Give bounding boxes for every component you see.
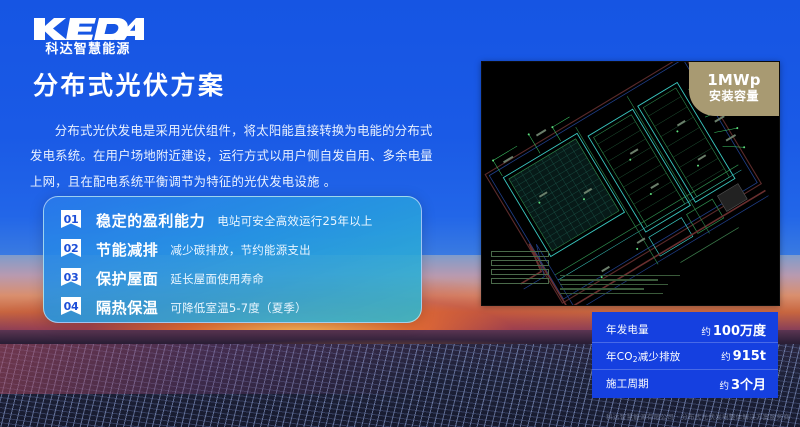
cad-site-plan[interactable]: 1MWp 安装容量 bbox=[481, 61, 780, 306]
feature-number: 02 bbox=[59, 242, 83, 255]
feature-title: 隔热保温 bbox=[96, 297, 158, 318]
feature-item-03[interactable]: 03 保护屋面 延长屋面使用寿命 bbox=[44, 264, 421, 293]
page-title: 分布式光伏方案 bbox=[33, 72, 226, 100]
brand-logo: 科达智慧能源 bbox=[32, 16, 144, 56]
stat-label-text: 施工周期 bbox=[606, 378, 649, 390]
stat-row-construction-period: 施工周期 约3个月 bbox=[592, 370, 778, 396]
number-badge-icon: 04 bbox=[59, 296, 83, 320]
feature-title: 保护屋面 bbox=[96, 268, 158, 289]
capacity-badge: 1MWp 安装容量 bbox=[689, 62, 779, 116]
number-badge-icon: 03 bbox=[59, 267, 83, 291]
footer-watermark: 科达智慧能源有限公司 · 分布式光伏发电整体解决方案服务商 bbox=[606, 411, 790, 421]
stats-panel: 年发电量 约100万度 年CO2减少排放 约915t 施工周期 约3个月 bbox=[592, 312, 778, 398]
stat-label: 施工周期 bbox=[606, 376, 649, 391]
stat-value-prefix: 约 bbox=[721, 352, 731, 363]
feature-number: 01 bbox=[59, 213, 83, 226]
feature-item-01[interactable]: 01 稳定的盈利能力 电站可安全高效运行25年以上 bbox=[44, 206, 421, 235]
feature-description: 减少碳排放，节约能源支出 bbox=[170, 242, 310, 258]
stat-label-text: 年发电量 bbox=[606, 324, 649, 336]
feature-description: 延长屋面使用寿命 bbox=[170, 271, 264, 287]
keda-logomark-icon bbox=[32, 16, 144, 42]
intro-paragraph: 分布式光伏发电是采用光伏组件，将太阳能直接转换为电能的分布式发电系统。在用户场地… bbox=[30, 118, 438, 194]
stat-value-number: 3个月 bbox=[731, 378, 766, 393]
stat-label-subscript: 2 bbox=[633, 355, 638, 364]
slide-root: 科达智慧能源 分布式光伏方案 分布式光伏发电是采用光伏组件，将太阳能直接转换为电… bbox=[0, 0, 800, 427]
feature-title: 节能减排 bbox=[96, 239, 158, 260]
feature-title: 稳定的盈利能力 bbox=[96, 210, 205, 231]
field-warm-tint bbox=[0, 344, 430, 394]
feature-item-04[interactable]: 04 隔热保温 可降低室温5-7度（夏季） bbox=[44, 293, 421, 322]
stat-row-co2-reduction: 年CO2减少排放 约915t bbox=[592, 343, 778, 370]
feature-number: 03 bbox=[59, 271, 83, 284]
number-badge-icon: 01 bbox=[59, 209, 83, 233]
stat-label-text-post: 减少排放 bbox=[638, 351, 681, 363]
feature-number: 04 bbox=[59, 300, 83, 313]
stat-value: 约3个月 bbox=[719, 374, 766, 393]
stat-value: 约915t bbox=[721, 349, 766, 364]
capacity-value: 1MWp bbox=[707, 73, 760, 89]
stat-value-number: 915t bbox=[733, 349, 766, 364]
stat-label-text: 年CO bbox=[606, 351, 633, 363]
cad-legend bbox=[491, 251, 549, 287]
cad-notes-block bbox=[560, 275, 680, 298]
capacity-label: 安装容量 bbox=[709, 89, 759, 105]
stat-label: 年发电量 bbox=[606, 322, 649, 337]
feature-panel: 01 稳定的盈利能力 电站可安全高效运行25年以上 02 节能减排 减少碳排放，… bbox=[43, 196, 422, 323]
number-badge-icon: 02 bbox=[59, 238, 83, 262]
feature-item-02[interactable]: 02 节能减排 减少碳排放，节约能源支出 bbox=[44, 235, 421, 264]
stat-row-annual-generation: 年发电量 约100万度 bbox=[592, 316, 778, 343]
stat-label: 年CO2减少排放 bbox=[606, 349, 681, 364]
stat-value-prefix: 约 bbox=[719, 381, 729, 392]
stat-value: 约100万度 bbox=[701, 320, 766, 339]
brand-logo-subtitle: 科达智慧能源 bbox=[32, 43, 144, 56]
stat-value-number: 100万度 bbox=[713, 324, 766, 339]
feature-description: 可降低室温5-7度（夏季） bbox=[170, 300, 306, 316]
stat-value-prefix: 约 bbox=[701, 327, 711, 338]
feature-description: 电站可安全高效运行25年以上 bbox=[217, 213, 372, 229]
